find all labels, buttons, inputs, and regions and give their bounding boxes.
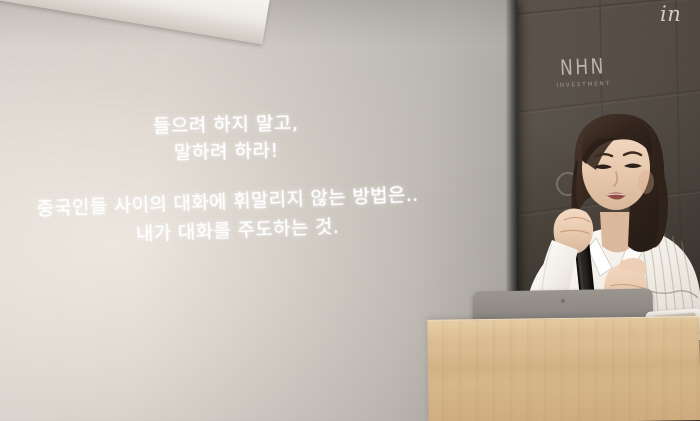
slide-headline-block: 들으려 하지 말고, 말하려 하라! (85, 109, 366, 169)
podium-wood-grain-band (428, 347, 700, 385)
presentation-photo: in NHN INVESTMENT (0, 0, 700, 421)
wooden-podium (427, 316, 700, 421)
speaker-neck (600, 212, 632, 253)
